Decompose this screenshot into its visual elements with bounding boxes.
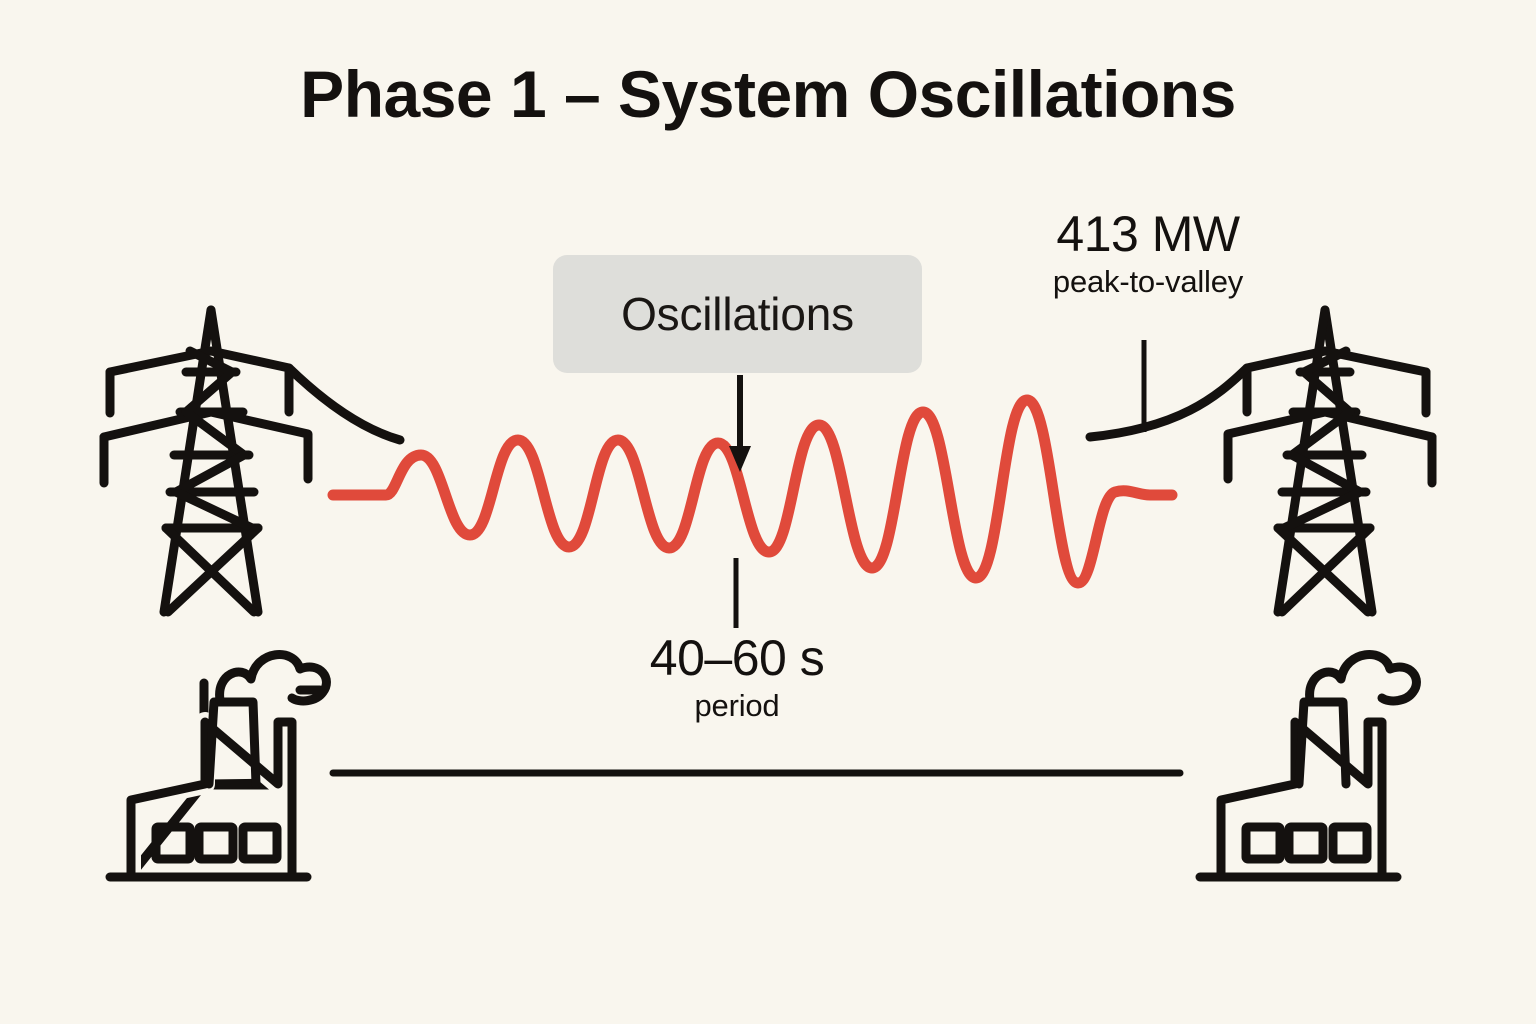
oscillation-waveform xyxy=(333,400,1172,583)
amplitude-annotation: 413 MW peak-to-valley xyxy=(1003,208,1293,303)
transmission-tower-icon-left xyxy=(104,310,308,612)
oscillations-callout-label: Oscillations xyxy=(621,287,854,341)
period-annotation: 40–60 s period xyxy=(592,632,882,727)
power-line-right xyxy=(1090,368,1247,437)
amplitude-value: 413 MW xyxy=(1003,208,1293,261)
amplitude-caption: peak-to-valley xyxy=(1003,261,1293,303)
oscillations-callout-box: Oscillations xyxy=(553,255,922,373)
transmission-tower-icon-right xyxy=(1228,310,1432,612)
factory-icon-left xyxy=(110,655,326,877)
period-caption: period xyxy=(592,685,882,727)
period-value: 40–60 s xyxy=(592,632,882,685)
diagram-canvas: Phase 1 – System Oscillations xyxy=(0,0,1536,1024)
factory-icon-right xyxy=(1200,655,1416,877)
diagram-scene xyxy=(0,0,1536,1024)
